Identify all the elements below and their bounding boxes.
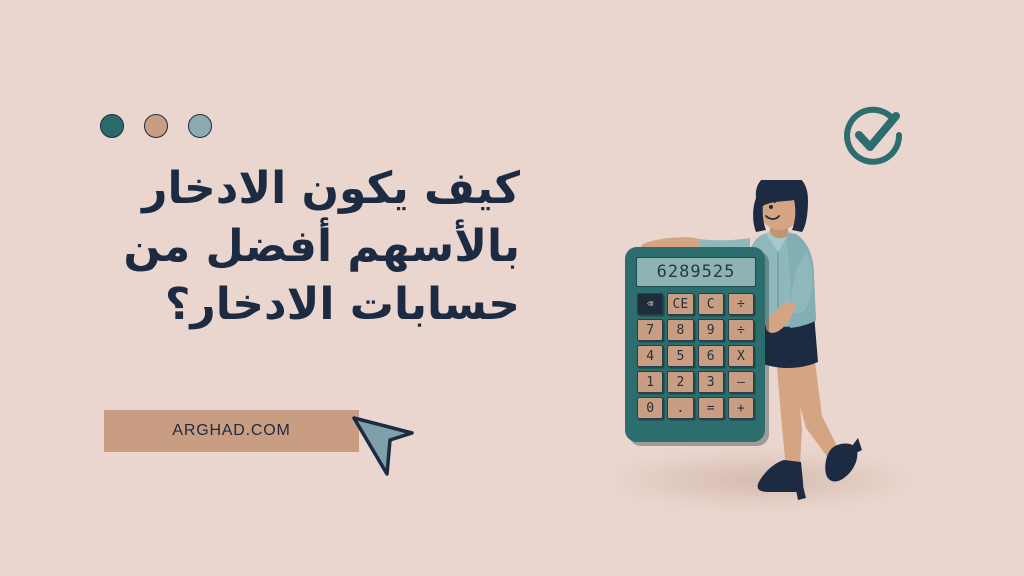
- key-7: 7: [637, 319, 663, 341]
- calculator: 6289525 ⌫CEC÷789÷456X123–0.=+: [625, 247, 765, 442]
- key-plus: +: [728, 397, 754, 419]
- calculator-keypad: ⌫CEC÷789÷456X123–0.=+: [637, 293, 754, 419]
- key-equals: =: [698, 397, 724, 419]
- cursor-arrow-icon: [350, 412, 422, 480]
- key-6: 6: [698, 345, 724, 367]
- website-url-label: ARGHAD.COM: [172, 422, 290, 440]
- dot-blue: [188, 114, 212, 138]
- key-5: 5: [667, 345, 693, 367]
- key-9: 9: [698, 319, 724, 341]
- key-divide: ÷: [728, 319, 754, 341]
- key-4: 4: [637, 345, 663, 367]
- key-multiply: X: [728, 345, 754, 367]
- dot-tan: [144, 114, 168, 138]
- key-c: C: [698, 293, 724, 315]
- decorative-dots: [100, 114, 212, 138]
- key-0: 0: [637, 397, 663, 419]
- key-minus: –: [728, 371, 754, 393]
- poster-canvas: كيف يكون الادخار بالأسهم أفضل من حسابات …: [0, 0, 1024, 576]
- dot-teal: [100, 114, 124, 138]
- check-circle-icon: [838, 100, 908, 170]
- calculator-display-value: 6289525: [657, 262, 736, 282]
- website-url-bar[interactable]: ARGHAD.COM: [104, 410, 359, 452]
- key-3: 3: [698, 371, 724, 393]
- key-8: 8: [667, 319, 693, 341]
- key-1: 1: [637, 371, 663, 393]
- key-backspace: ⌫: [637, 293, 663, 315]
- key-2: 2: [667, 371, 693, 393]
- key-decimal: .: [667, 397, 693, 419]
- headline-text: كيف يكون الادخار بالأسهم أفضل من حسابات …: [80, 160, 520, 334]
- key-divide-top: ÷: [728, 293, 754, 315]
- calculator-display: 6289525: [636, 257, 756, 287]
- key-ce: CE: [667, 293, 693, 315]
